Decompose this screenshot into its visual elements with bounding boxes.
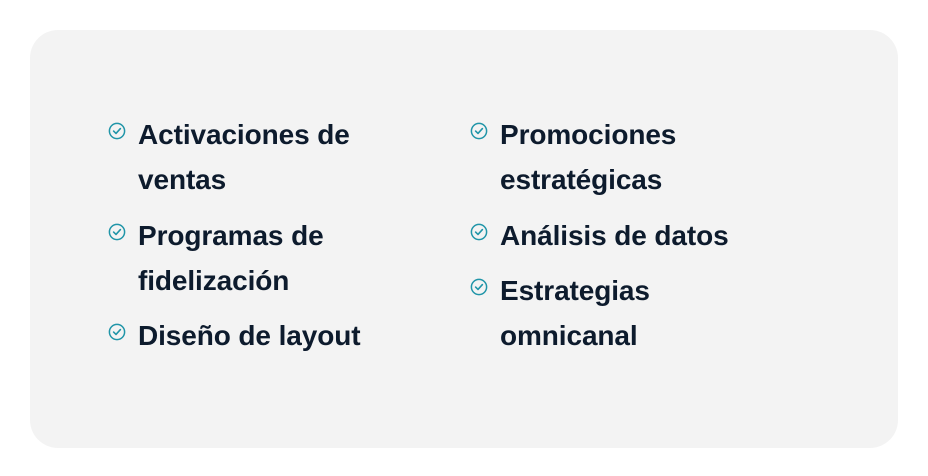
check-circle-icon — [108, 122, 126, 140]
checklist-column-left: Activaciones de ventas Programas de fide… — [108, 112, 438, 359]
list-item-label: Promociones estratégicas — [500, 112, 676, 203]
list-item[interactable]: Promociones estratégicas — [470, 112, 800, 203]
list-item[interactable]: Estrategias omnicanal — [470, 268, 800, 359]
checklist-column-right: Promociones estratégicas Análisis de dat… — [470, 112, 800, 359]
check-circle-icon — [108, 223, 126, 241]
checklist-card: Activaciones de ventas Programas de fide… — [30, 30, 898, 448]
list-item[interactable]: Activaciones de ventas — [108, 112, 438, 203]
check-circle-icon — [470, 223, 488, 241]
list-item-label: Diseño de layout — [138, 313, 360, 358]
check-circle-icon — [470, 278, 488, 296]
check-circle-icon — [470, 122, 488, 140]
check-circle-icon — [108, 323, 126, 341]
checklist-columns: Activaciones de ventas Programas de fide… — [108, 112, 898, 359]
list-item-label: Programas de fidelización — [138, 213, 324, 304]
list-item[interactable]: Programas de fidelización — [108, 213, 438, 304]
list-item-label: Estrategias omnicanal — [500, 268, 650, 359]
list-item[interactable]: Análisis de datos — [470, 213, 800, 258]
list-item[interactable]: Diseño de layout — [108, 313, 438, 358]
screenshot-canvas: Activaciones de ventas Programas de fide… — [0, 0, 928, 476]
list-item-label: Activaciones de ventas — [138, 112, 350, 203]
list-item-label: Análisis de datos — [500, 213, 729, 258]
